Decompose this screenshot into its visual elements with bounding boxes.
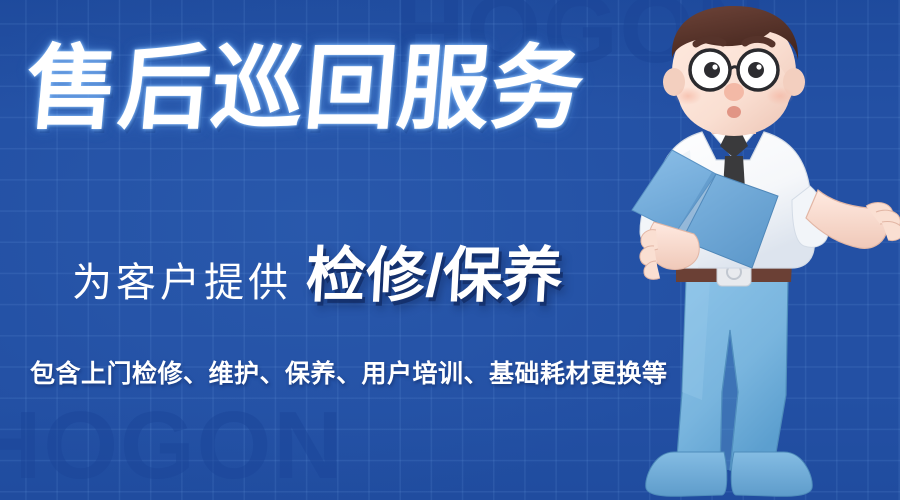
promo-banner: HOGON HOGON 售后巡回服务 为客户提供 检修/保养 包含上门检修、维护… bbox=[0, 0, 900, 500]
tagline-text: 包含上门检修、维护、保养、用户培训、基础耗材更换等 bbox=[30, 362, 668, 387]
legs bbox=[676, 280, 788, 470]
headline-title: 售后巡回服务 bbox=[22, 43, 588, 135]
service-engineer-illustration bbox=[610, 0, 900, 500]
head bbox=[663, 6, 805, 136]
watermark-bottom: HOGON bbox=[0, 398, 345, 494]
subline-lead-text: 为客户提供 bbox=[72, 263, 292, 303]
subline-emphasis-text: 检修/保养 bbox=[304, 246, 564, 306]
subline-group: 为客户提供 检修/保养 bbox=[72, 246, 563, 306]
